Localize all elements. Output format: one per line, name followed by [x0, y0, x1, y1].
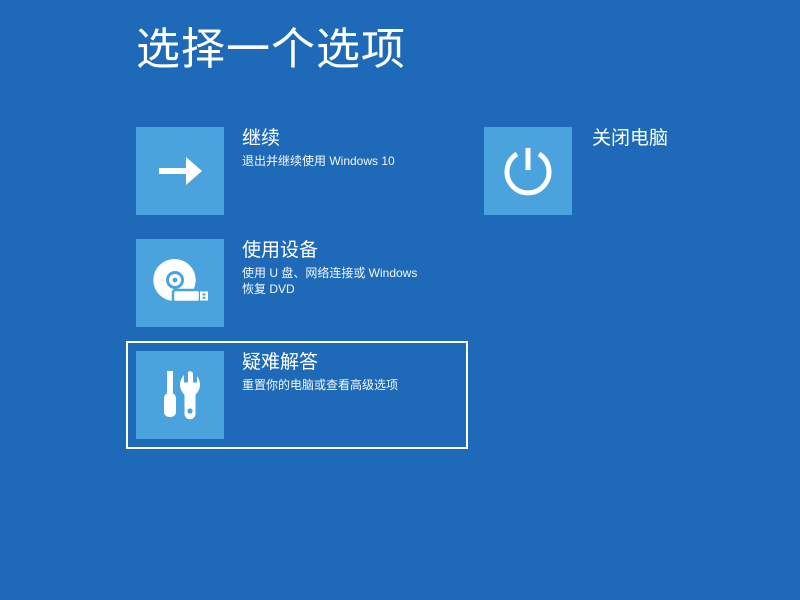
- use-a-device-text: 使用设备 使用 U 盘、网络连接或 Windows 恢复 DVD: [224, 239, 427, 297]
- disc-usb-device-icon: [151, 256, 209, 310]
- option-title: 疑难解答: [242, 351, 427, 375]
- option-title: 使用设备: [242, 239, 427, 263]
- troubleshoot-tile[interactable]: [136, 351, 224, 439]
- troubleshoot-text: 疑难解答 重置你的电脑或查看高级选项: [224, 351, 427, 393]
- continue-text: 继续 退出并继续使用 Windows 10: [224, 127, 427, 169]
- option-continue[interactable]: 继续 退出并继续使用 Windows 10: [136, 127, 466, 215]
- option-subtitle: 退出并继续使用 Windows 10: [242, 153, 427, 169]
- power-icon: [501, 144, 555, 198]
- options-list: 继续 退出并继续使用 Windows 10: [136, 127, 466, 463]
- continue-tile[interactable]: [136, 127, 224, 215]
- option-title: 关闭电脑: [592, 127, 782, 151]
- turn-off-pc-tile[interactable]: [484, 127, 572, 215]
- turn-off-pc-text: 关闭电脑: [572, 127, 782, 153]
- option-subtitle: 重置你的电脑或查看高级选项: [242, 377, 427, 393]
- use-a-device-tile[interactable]: [136, 239, 224, 327]
- option-subtitle: 使用 U 盘、网络连接或 Windows 恢复 DVD: [242, 265, 427, 297]
- arrow-right-icon: [155, 151, 205, 191]
- option-title: 继续: [242, 127, 427, 151]
- option-use-a-device[interactable]: 使用设备 使用 U 盘、网络连接或 Windows 恢复 DVD: [136, 239, 466, 327]
- option-troubleshoot[interactable]: 疑难解答 重置你的电脑或查看高级选项: [136, 351, 458, 439]
- option-turn-off-pc[interactable]: 关闭电脑: [484, 127, 782, 215]
- choose-an-option-screen: 选择一个选项 继续 退出并继续使用 Windows 10: [0, 0, 800, 600]
- page-title: 选择一个选项: [136, 26, 406, 74]
- screwdriver-wrench-icon: [154, 368, 206, 422]
